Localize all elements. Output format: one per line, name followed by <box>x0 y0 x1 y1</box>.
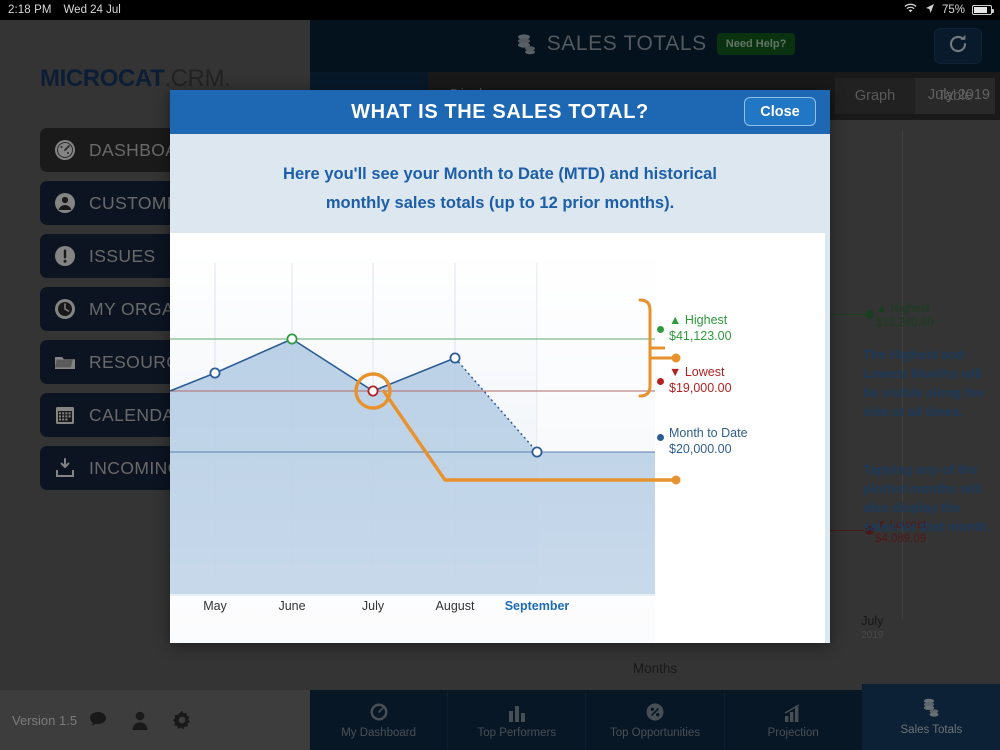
legend-month-to-date: Month to Date $20,000.00 <box>669 426 748 457</box>
legend-lowest-label: ▼ Lowest <box>669 365 732 380</box>
data-point-august <box>450 353 459 362</box>
data-point-may <box>210 368 219 377</box>
status-time: 2:18 PM <box>8 4 52 16</box>
modal-description-line-1: Here you'll see your Month to Date (MTD)… <box>230 160 770 189</box>
x-label-august[interactable]: August <box>436 599 475 613</box>
legend-mtd-dot <box>657 434 664 441</box>
modal-description-line-2: monthly sales totals (up to 12 prior mon… <box>230 189 770 218</box>
legend-mtd-label: Month to Date <box>669 426 748 441</box>
legend-highest: ▲ Highest $41,123.00 <box>669 313 732 344</box>
x-label-july[interactable]: July <box>362 599 384 613</box>
modal-title: WHAT IS THE SALES TOTAL? <box>351 101 649 124</box>
chart-svg <box>170 251 655 596</box>
status-bar: 2:18 PM Wed 24 Jul 75% <box>0 0 1000 20</box>
help-modal: WHAT IS THE SALES TOTAL? Close Here you'… <box>170 90 830 643</box>
battery-icon <box>972 5 992 15</box>
modal-header: WHAT IS THE SALES TOTAL? Close <box>170 90 830 134</box>
legend-lowest: ▼ Lowest $19,000.00 <box>669 365 732 396</box>
data-point-june <box>287 334 296 343</box>
data-point-september <box>532 447 541 456</box>
x-label-september[interactable]: September <box>505 599 570 613</box>
sales-chart: May June July August September <box>170 233 655 643</box>
annotation-tap-month: Tapping any of the plotted months will a… <box>863 460 993 536</box>
x-label-may[interactable]: May <box>203 599 227 613</box>
chart-x-axis: May June July August September <box>170 599 655 619</box>
legend-highest-dot <box>657 326 664 333</box>
x-label-june[interactable]: June <box>278 599 305 613</box>
legend-highest-value: $41,123.00 <box>669 328 732 344</box>
data-point-july <box>368 386 377 395</box>
legend-mtd-value: $20,000.00 <box>669 441 748 457</box>
location-icon <box>925 3 935 17</box>
wifi-icon <box>903 3 918 17</box>
app-root: 2:18 PM Wed 24 Jul 75% MICROCAT.CRM. DAS… <box>0 0 1000 750</box>
modal-description: Here you'll see your Month to Date (MTD)… <box>170 134 830 218</box>
legend-highest-label: ▲ Highest <box>669 313 732 328</box>
legend-lowest-value: $19,000.00 <box>669 380 732 396</box>
battery-percent: 75% <box>942 4 965 16</box>
annotation-highest-lowest: The Highest and Lowest Months will be vi… <box>863 345 993 421</box>
close-button[interactable]: Close <box>744 97 816 126</box>
chart-plot-area <box>170 251 655 596</box>
chart-legend: ▲ Highest $41,123.00 ▼ Lowest $19,000.00… <box>655 233 825 643</box>
status-date: Wed 24 Jul <box>64 4 121 16</box>
legend-lowest-dot <box>657 378 664 385</box>
